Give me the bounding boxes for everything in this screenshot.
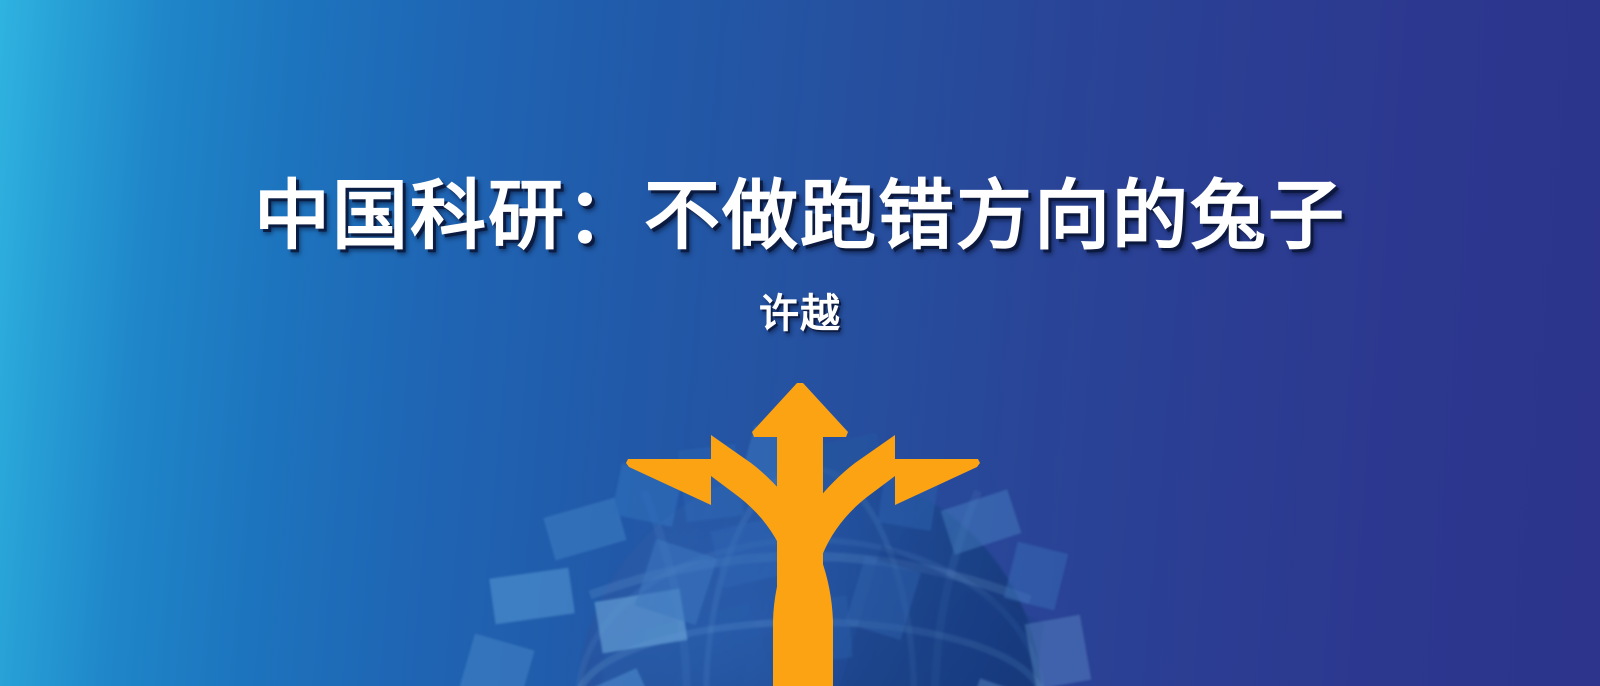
arrow-branch-center [752,383,848,686]
globe-shard [489,568,575,625]
arrow-shape-group [626,383,980,686]
presentation-slide: 中国科研：不做跑错方向的兔子 许越 [0,0,1600,686]
globe-shard [459,634,534,686]
three-way-arrow-icon [600,375,1000,686]
